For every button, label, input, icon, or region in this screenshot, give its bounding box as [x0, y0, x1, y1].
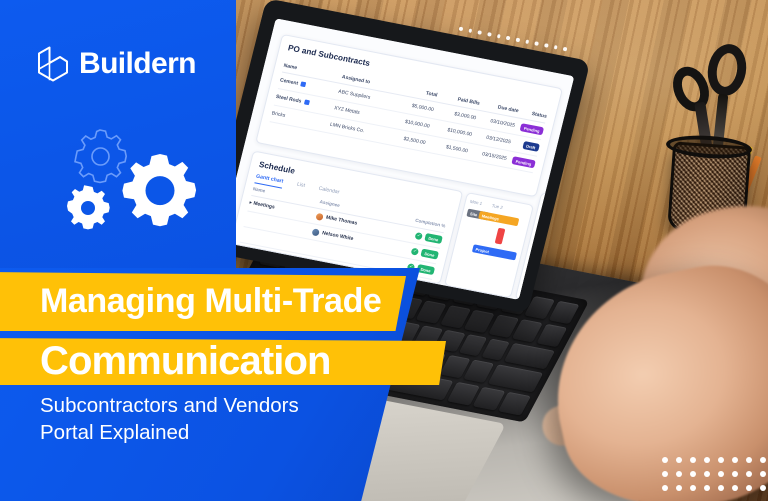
headline-line-1: Managing Multi-Trade [0, 282, 381, 321]
tab-calendar[interactable]: Calendar [564, 220, 574, 233]
headline-banner-secondary: Communication [0, 338, 446, 385]
status-badge: Done [420, 249, 439, 260]
po-cell-paid: $1,500.00 [425, 140, 469, 154]
po-cell-status: Pending [514, 122, 544, 135]
subtitle-line-2: Portal Explained [40, 419, 400, 446]
tab-list[interactable]: List [295, 182, 305, 193]
status-badge: Done [424, 233, 443, 244]
po-cell-due: 03/10/2025 [475, 115, 515, 128]
checkbox[interactable] [528, 272, 535, 279]
todos-col-name: Name [539, 228, 574, 247]
todos-card-title: To-Do's [545, 202, 574, 228]
avatar [315, 212, 324, 220]
status-badge: Draft [522, 141, 540, 152]
gear-outline-icon [75, 130, 126, 182]
check-icon: ✓ [414, 232, 423, 240]
gantt-day-2: Tue 2 [491, 203, 503, 210]
po-cell-due: 03/15/2025 [467, 149, 507, 162]
check-icon: ✓ [410, 247, 419, 255]
gantt-bar-project[interactable]: Project [472, 244, 517, 260]
brand-name: Buildern [79, 47, 196, 81]
po-cell-status: Draft [510, 139, 540, 152]
buildern-app-ui: PO and Subcontracts Name Assigned to Tot… [220, 18, 574, 299]
headline-line-2: Communication [0, 339, 331, 384]
po-cell-paid: $10,000.00 [429, 124, 473, 138]
dot-grid-pattern-icon [662, 457, 768, 499]
brand-logo[interactable]: Buildern [36, 44, 196, 84]
checkbox[interactable] [536, 241, 543, 248]
gear-small-icon [67, 185, 110, 229]
po-cell-total: $5,000.00 [392, 99, 434, 113]
po-cell-total: $10,000.00 [388, 116, 430, 130]
checkbox[interactable] [532, 257, 539, 264]
laptop-screen: PO and Subcontracts Name Assigned to Tot… [220, 18, 574, 299]
status-badge: Pending [511, 156, 535, 168]
po-col-status: Status [518, 108, 548, 119]
cover-image-canvas: PO and Subcontracts Name Assigned to Tot… [0, 0, 768, 501]
subtitle-line-1: Subcontractors and Vendors [40, 392, 400, 419]
todos-table-header: Name Status [538, 224, 574, 253]
avatar [311, 228, 320, 236]
link-icon [300, 82, 306, 88]
po-cell-status: Pending [506, 155, 536, 168]
gears-icon [62, 128, 232, 254]
status-dot-icon [550, 244, 557, 251]
po-cell-due: 03/12/2025 [471, 132, 511, 145]
po-cell-total: $2,500.00 [384, 132, 426, 146]
subtitle-block: Subcontractors and Vendors Portal Explai… [40, 392, 400, 446]
gantt-day-1: Mon 1 [469, 199, 482, 206]
link-icon [304, 100, 310, 106]
headline-banner-primary: Managing Multi-Trade [0, 272, 406, 331]
todo-item-label: General Tasks [559, 246, 575, 258]
po-cell-paid: $3,000.00 [433, 107, 477, 121]
buildern-hexagon-logo-icon [36, 44, 70, 84]
todos-tabs: List Calendar [542, 215, 575, 241]
tab-list[interactable]: List [542, 215, 553, 226]
gantt-bar-milestone[interactable] [495, 228, 506, 245]
po-table: Name Assigned to Total Paid Bills Due da… [270, 59, 549, 173]
chevron-right-icon[interactable]: ▸ [545, 243, 549, 249]
gantt-bar-meetings[interactable]: Meetings [478, 211, 519, 226]
status-badge: Pending [520, 123, 544, 135]
gear-large-icon [122, 154, 196, 226]
